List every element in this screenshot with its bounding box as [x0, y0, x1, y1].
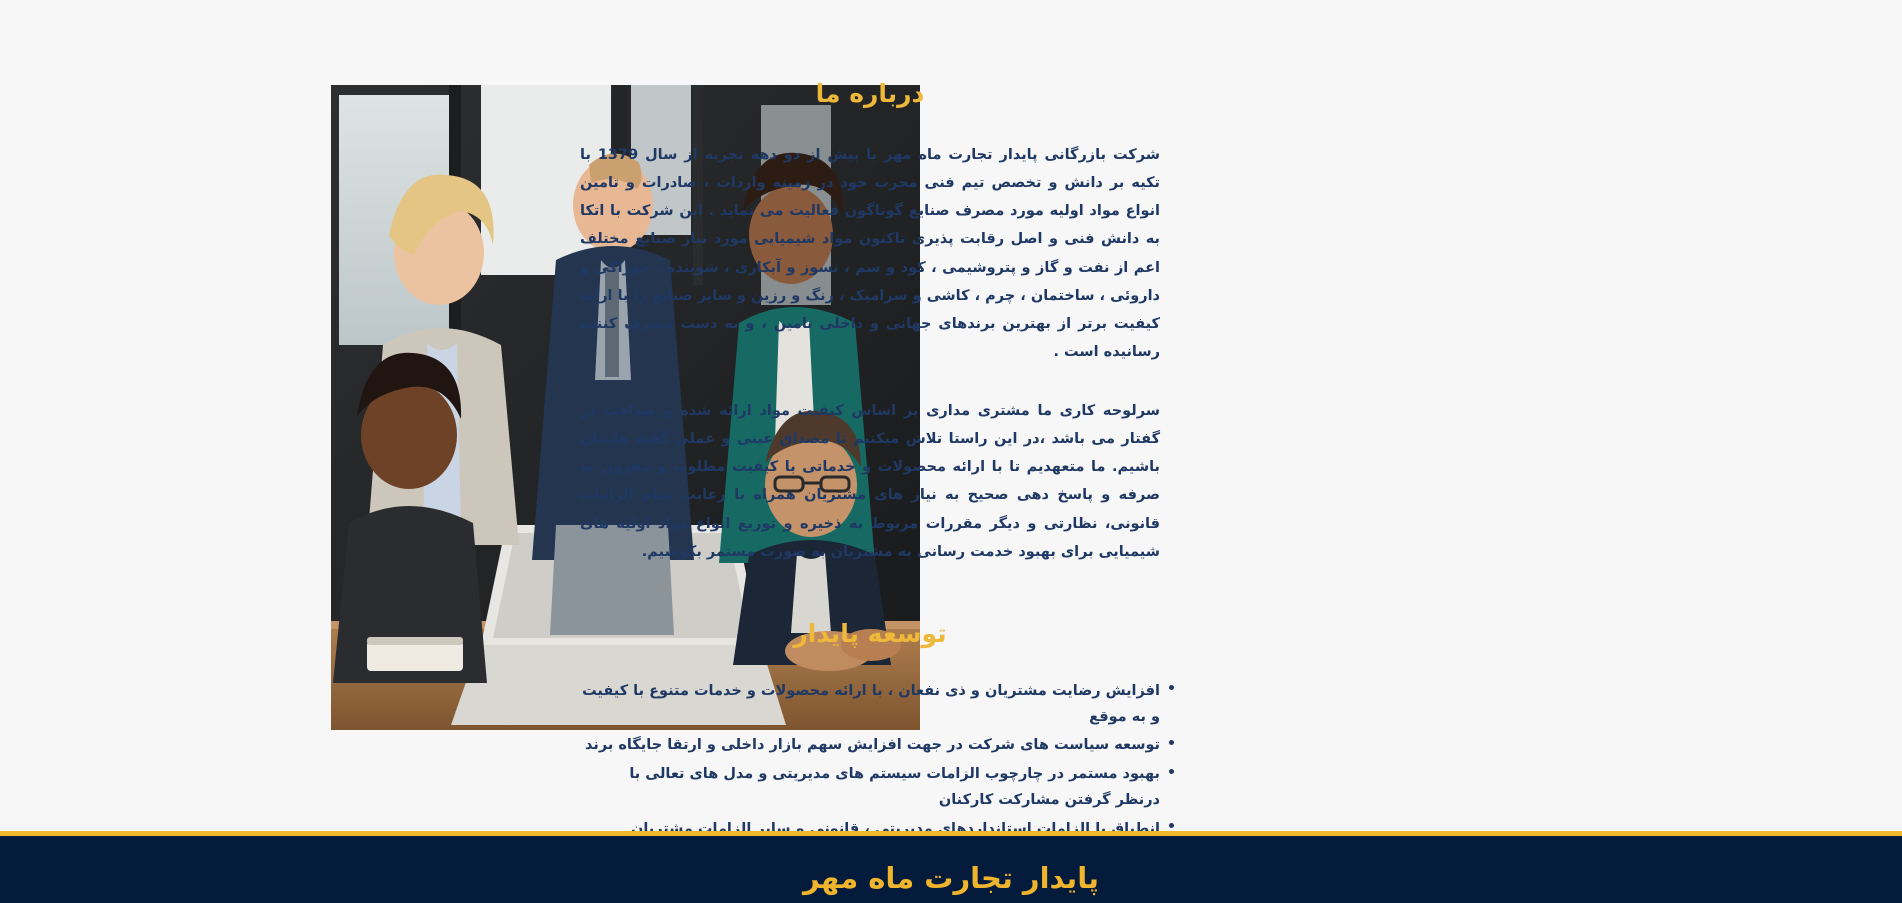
about-text-column: درباره ما شرکت بازرگانی پایدار تجارت ماه…	[580, 78, 1160, 903]
bullet-dot-icon	[1169, 769, 1174, 774]
list-item-label: افزایش رضایت مشتریان و ذی نفعان ، با ارا…	[582, 683, 1160, 725]
page-root: درباره ما شرکت بازرگانی پایدار تجارت ماه…	[0, 0, 1902, 903]
about-paragraph-1: شرکت بازرگانی پایدار تجارت ماه مهر با بی…	[580, 141, 1160, 367]
main-content: درباره ما شرکت بازرگانی پایدار تجارت ماه…	[0, 0, 1902, 831]
site-footer: پایدار تجارت ماه مهر	[0, 831, 1902, 903]
sustainable-development-heading: توسعه پایدار	[580, 618, 1160, 651]
list-item-label: توسعه سیاست های شرکت در جهت افزایش سهم ب…	[585, 737, 1160, 753]
list-item: بهبود مستمر در چارچوب الزامات سیستم های …	[580, 762, 1160, 814]
bullet-dot-icon	[1169, 740, 1174, 745]
list-item: افزایش رضایت مشتریان و ذی نفعان ، با ارا…	[580, 679, 1160, 731]
list-item: توسعه سیاست های شرکت در جهت افزایش سهم ب…	[580, 733, 1160, 759]
footer-company-title: پایدار تجارت ماه مهر	[803, 843, 1099, 896]
bullet-dot-icon	[1169, 685, 1174, 690]
about-heading: درباره ما	[580, 78, 1160, 111]
bullet-dot-icon	[1169, 823, 1174, 828]
about-paragraph-2: سرلوحه کاری ما مشتری مداری بر اساس کیفیت…	[580, 397, 1160, 567]
list-item-label: بهبود مستمر در چارچوب الزامات سیستم های …	[629, 766, 1160, 808]
